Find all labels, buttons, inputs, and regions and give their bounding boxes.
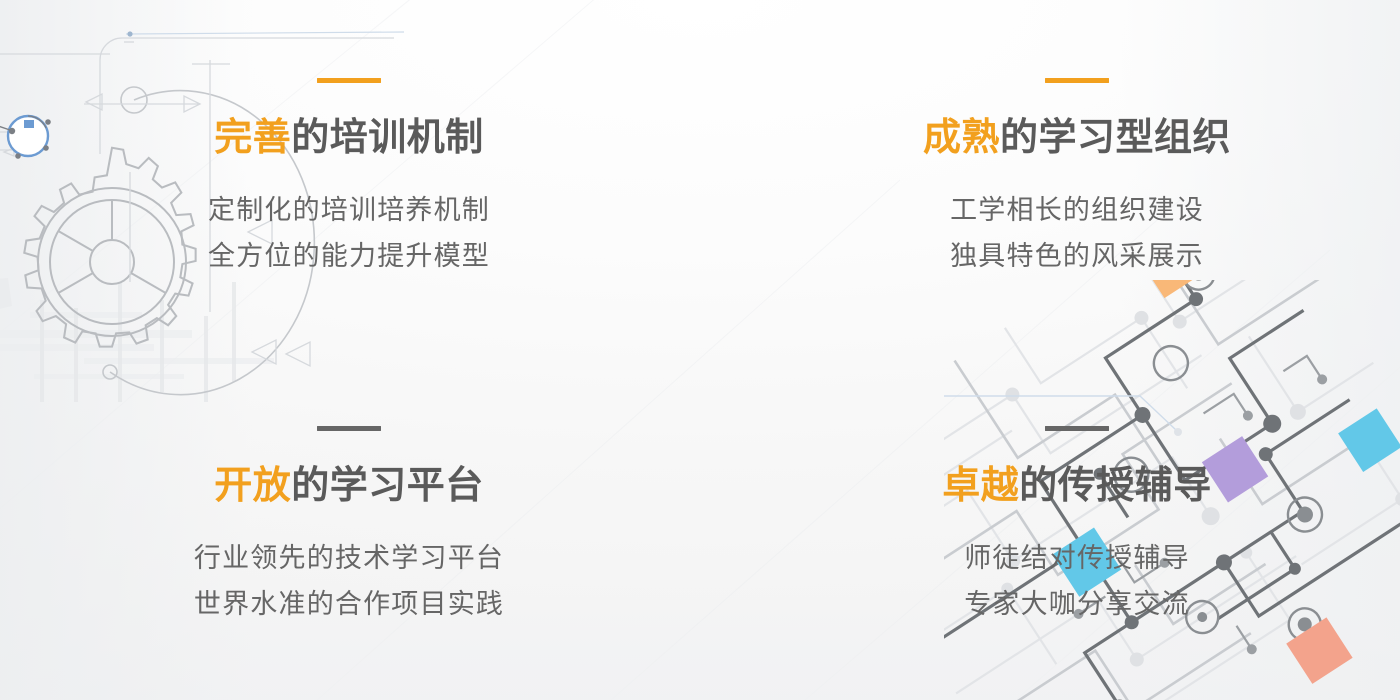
feature-grid: 完善的培训机制 定制化的培训培养机制 全方位的能力提升模型 成熟的学习型组织 工…: [0, 0, 1400, 700]
divider-rule: [317, 78, 381, 83]
feature-line: 全方位的能力提升模型: [208, 233, 490, 279]
feature-line: 工学相长的组织建设: [950, 187, 1204, 233]
feature-lines: 行业领先的技术学习平台 世界水准的合作项目实践: [194, 535, 504, 628]
feature-block-learning-organization: 成熟的学习型组织 工学相长的组织建设 独具特色的风采展示: [700, 0, 1400, 350]
feature-lines: 定制化的培训培养机制 全方位的能力提升模型: [208, 187, 490, 280]
heading-rest: 的学习型组织: [1000, 117, 1231, 159]
heading-highlight: 开放: [214, 465, 291, 507]
feature-heading: 卓越的传授辅导: [942, 467, 1212, 505]
feature-line: 独具特色的风采展示: [950, 233, 1204, 279]
feature-line: 行业领先的技术学习平台: [194, 535, 504, 581]
feature-line: 定制化的培训培养机制: [208, 187, 490, 233]
feature-block-mentoring-guidance: 卓越的传授辅导 师徒结对传授辅导 专家大咖分享交流: [700, 350, 1400, 700]
feature-heading: 完善的培训机制: [214, 119, 484, 157]
feature-lines: 师徒结对传授辅导 专家大咖分享交流: [964, 535, 1190, 628]
heading-highlight: 卓越: [942, 465, 1019, 507]
feature-heading: 成熟的学习型组织: [923, 119, 1231, 157]
feature-lines: 工学相长的组织建设 独具特色的风采展示: [950, 187, 1204, 280]
feature-block-learning-platform: 开放的学习平台 行业领先的技术学习平台 世界水准的合作项目实践: [0, 350, 700, 700]
feature-heading: 开放的学习平台: [214, 467, 484, 505]
heading-highlight: 完善: [214, 117, 291, 159]
feature-line: 世界水准的合作项目实践: [194, 581, 504, 627]
poster-canvas: 完善的培训机制 定制化的培训培养机制 全方位的能力提升模型 成熟的学习型组织 工…: [0, 0, 1400, 700]
heading-rest: 的传授辅导: [1019, 465, 1212, 507]
divider-rule: [317, 426, 381, 431]
feature-block-training-mechanism: 完善的培训机制 定制化的培训培养机制 全方位的能力提升模型: [0, 0, 700, 350]
heading-rest: 的学习平台: [291, 465, 484, 507]
feature-line: 师徒结对传授辅导: [964, 535, 1190, 581]
divider-rule: [1045, 426, 1109, 431]
heading-highlight: 成熟: [923, 117, 1000, 159]
heading-rest: 的培训机制: [291, 117, 484, 159]
divider-rule: [1045, 78, 1109, 83]
feature-line: 专家大咖分享交流: [964, 581, 1190, 627]
